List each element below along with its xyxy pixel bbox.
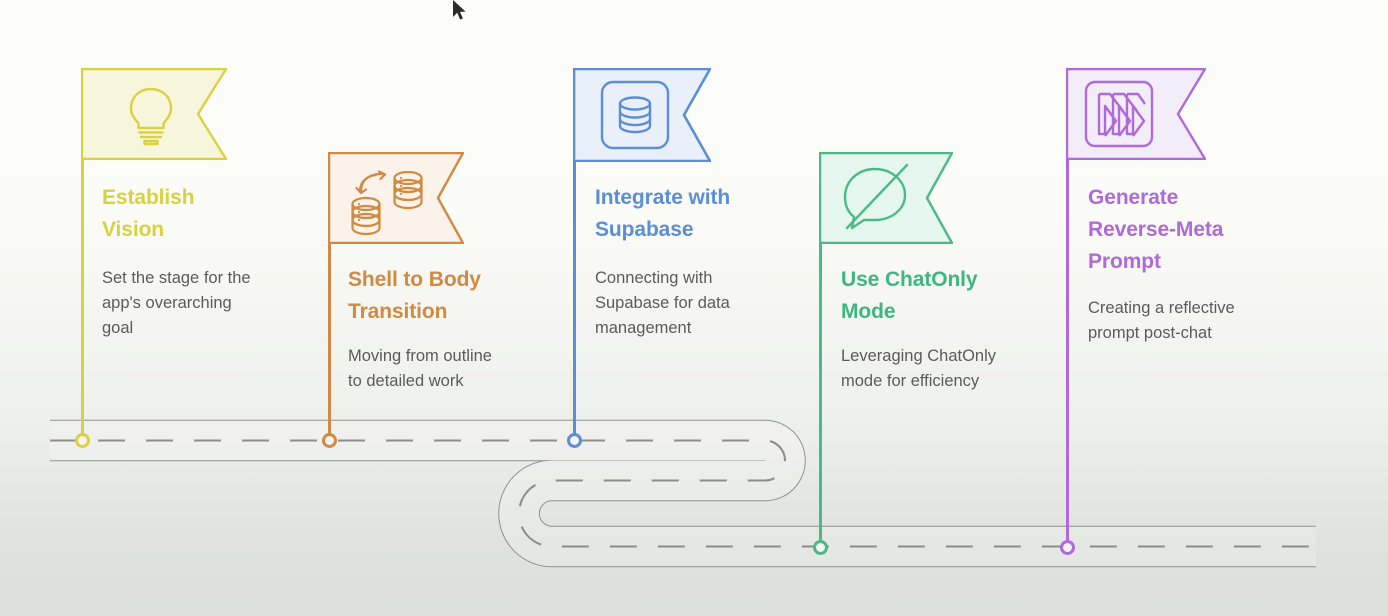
flag-triple-chevron: [1066, 68, 1206, 160]
flag-lightbulb: [81, 68, 227, 160]
milestone-title: Generate Reverse-Meta Prompt: [1088, 182, 1308, 278]
roadmap-diagram: Establish Vision Set the stage for the a…: [0, 0, 1388, 616]
milestone-description: Set the stage for the app's overarching …: [102, 266, 302, 341]
milestone-description: Creating a reflective prompt post-chat: [1088, 296, 1298, 346]
road-fill: [50, 441, 1316, 547]
road-marker[interactable]: [322, 433, 337, 448]
milestone-title: Establish Vision: [102, 182, 272, 246]
milestone-description: Connecting with Supabase for data manage…: [595, 266, 795, 341]
road-marker[interactable]: [813, 540, 828, 555]
milestone-title: Use ChatOnly Mode: [841, 264, 1051, 328]
road-marker[interactable]: [567, 433, 582, 448]
milestone-description: Moving from outline to detailed work: [348, 344, 558, 394]
flag-chat-off: [819, 152, 953, 244]
road-marker[interactable]: [75, 433, 90, 448]
flag-database-migration: [328, 152, 464, 244]
road-marker[interactable]: [1060, 540, 1075, 555]
flag-database: [573, 68, 711, 162]
milestone-title: Shell to Body Transition: [348, 264, 548, 328]
milestone-description: Leveraging ChatOnly mode for efficiency: [841, 344, 1056, 394]
milestone-title: Integrate with Supabase: [595, 182, 795, 246]
